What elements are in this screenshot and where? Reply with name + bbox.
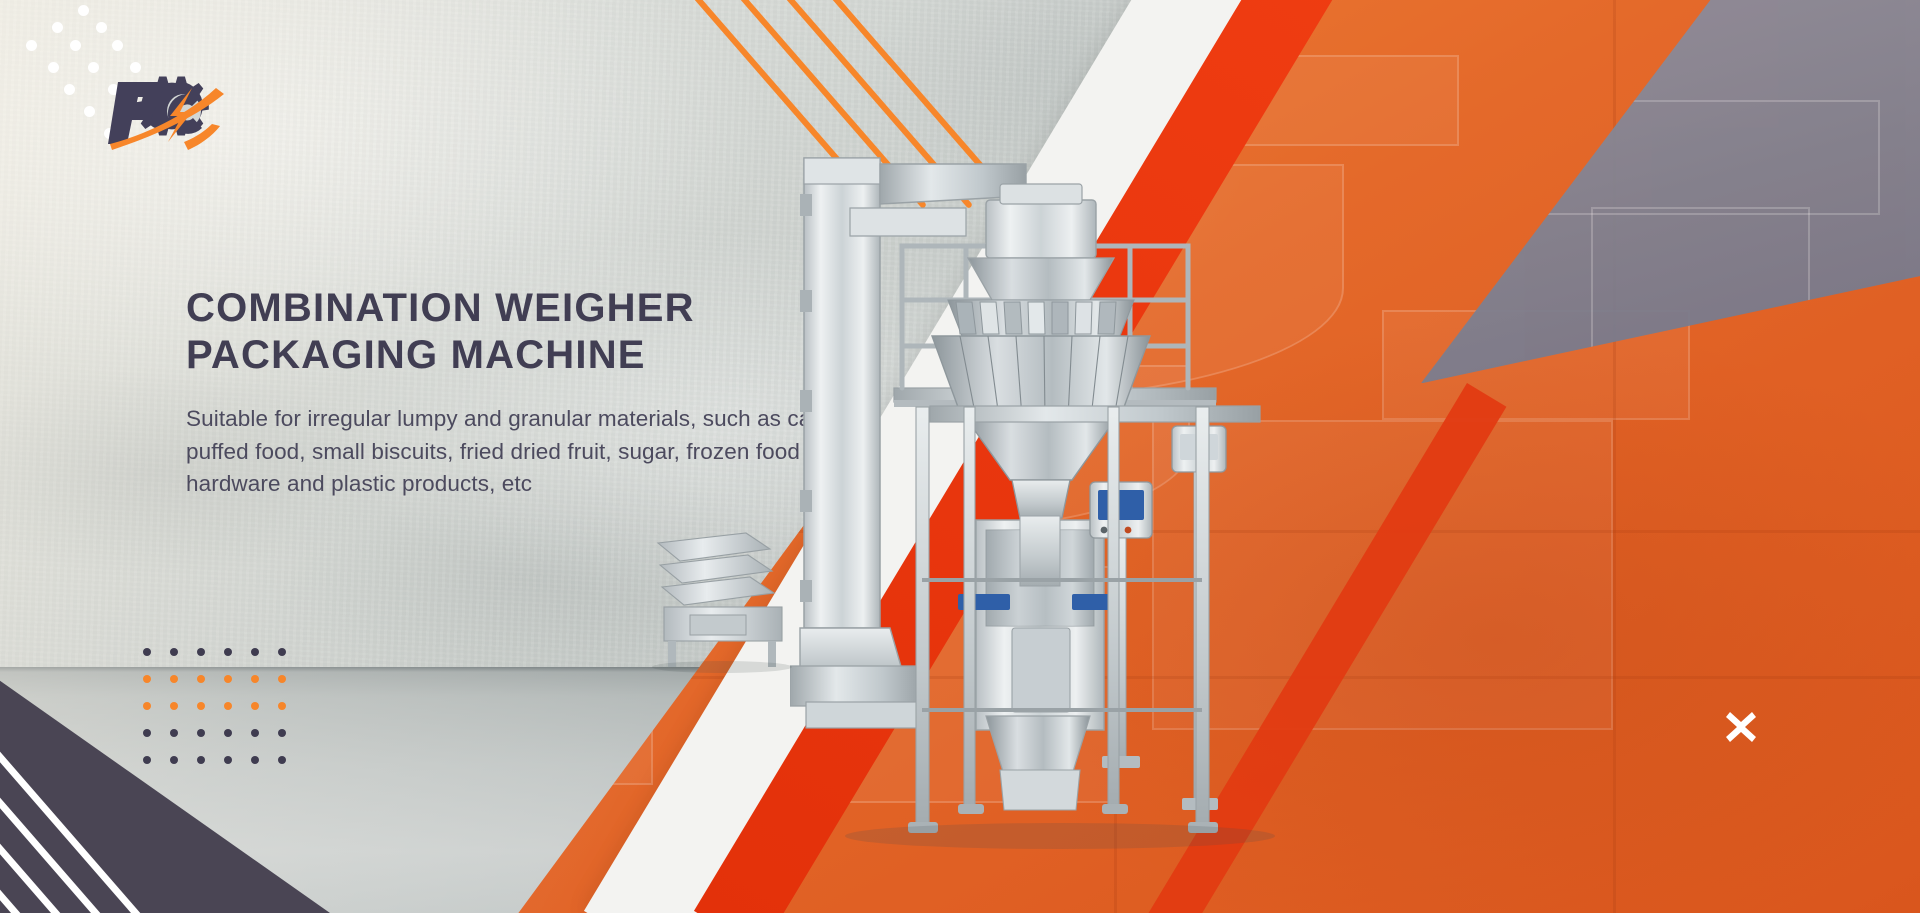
dot (64, 84, 75, 95)
dot (224, 702, 232, 710)
dot (170, 675, 178, 683)
dot (197, 756, 205, 764)
dot (224, 756, 232, 764)
hero-copy: COMBINATION WEIGHER PACKAGING MACHINE Su… (186, 285, 866, 501)
dot (278, 729, 286, 737)
dot (143, 675, 151, 683)
dot (278, 756, 286, 764)
dot-grid-left (143, 648, 286, 764)
dot (170, 756, 178, 764)
dot (251, 648, 259, 656)
x-mark-icon (1724, 710, 1758, 744)
dot (170, 648, 178, 656)
dot (278, 702, 286, 710)
page-title-line2: PACKAGING MACHINE (186, 332, 866, 379)
dot (96, 22, 107, 33)
page-title-line1: COMBINATION WEIGHER (186, 285, 866, 332)
dot (278, 675, 286, 683)
dot (143, 702, 151, 710)
dot (251, 702, 259, 710)
dot (251, 756, 259, 764)
product-image-combination-weigher (790, 150, 1450, 870)
dot (278, 648, 286, 656)
dot (251, 675, 259, 683)
page-title: COMBINATION WEIGHER PACKAGING MACHINE (186, 285, 866, 379)
hero-banner: COMBINATION WEIGHER PACKAGING MACHINE Su… (0, 0, 1920, 913)
dot (224, 648, 232, 656)
brand-logo[interactable] (96, 64, 228, 156)
dot (112, 40, 123, 51)
dot (26, 40, 37, 51)
tray-stack (650, 515, 850, 675)
dot (197, 648, 205, 656)
hero-description: Suitable for irregular lumpy and granula… (186, 403, 866, 500)
dot (170, 729, 178, 737)
dot (52, 22, 63, 33)
dot (251, 729, 259, 737)
dot (48, 62, 59, 73)
dot (143, 729, 151, 737)
dot (197, 729, 205, 737)
dot (84, 106, 95, 117)
dot (197, 702, 205, 710)
dot (224, 675, 232, 683)
dot (143, 648, 151, 656)
dot (143, 756, 151, 764)
dot (170, 702, 178, 710)
dot (197, 675, 205, 683)
dot (78, 5, 89, 16)
dot (224, 729, 232, 737)
dot (70, 40, 81, 51)
